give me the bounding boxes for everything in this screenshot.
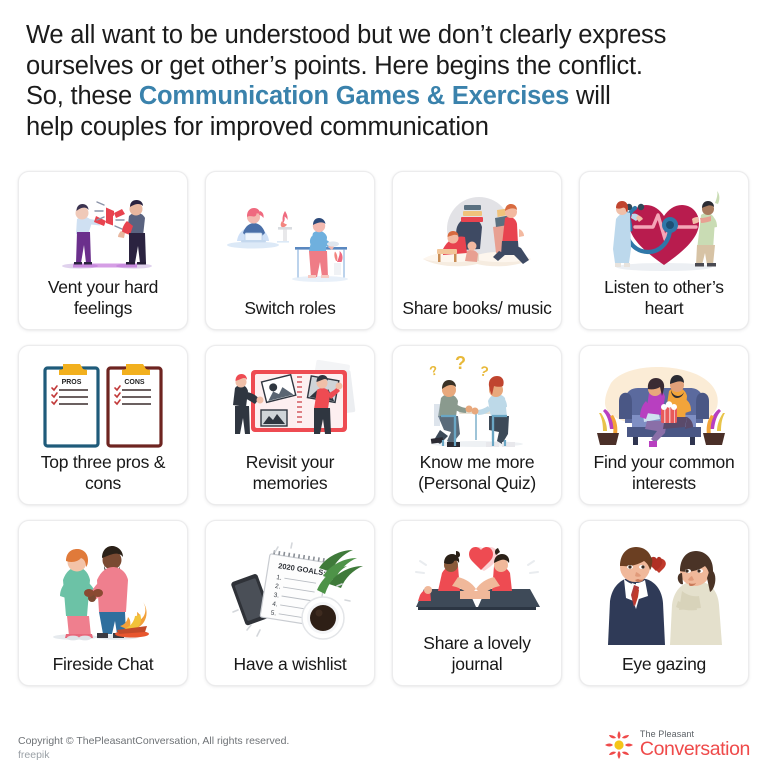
card-share-a-lovely-journal[interactable]: Share a lovely journal [392, 520, 562, 686]
infographic-page: We all want to be understood but we don’… [0, 0, 768, 767]
card-know-me-more[interactable]: ? ? ? [392, 345, 562, 505]
copyright-block: Copyright © ThePleasantConversation, All… [18, 734, 289, 762]
illustration-couple-with-cups-fire [25, 529, 181, 654]
card-caption: Fireside Chat [51, 654, 156, 676]
card-caption: Listen to other’s heart [586, 277, 742, 320]
card-caption: Share books/ music [400, 298, 553, 320]
illustration-two-people-questions: ? ? ? [399, 354, 555, 452]
illustration-photo-album [212, 354, 368, 452]
brand-logo[interactable]: The Pleasant Conversation [604, 730, 750, 760]
source-attribution: freepik [18, 748, 289, 762]
copyright-text: Copyright © ThePleasantConversation, All… [18, 734, 289, 748]
card-caption: Know me more (Personal Quiz) [399, 452, 555, 495]
header-line-1: We all want to be understood but we don’… [26, 21, 666, 49]
svg-text:?: ? [455, 356, 466, 373]
exercise-card-grid: Vent your hard feelings [18, 171, 750, 686]
card-fireside-chat[interactable]: Fireside Chat [18, 520, 188, 686]
illustration-notepad-coffee-phone: 2020 GOALS: 1.2.3. 4.5. [212, 529, 368, 654]
illustration-megaphone-argument [25, 180, 181, 277]
card-caption: Eye gazing [620, 654, 708, 676]
svg-text:?: ? [478, 362, 490, 379]
card-switch-roles[interactable]: Switch roles [205, 171, 375, 330]
sun-burst-icon [604, 730, 634, 760]
card-caption: Find your common interests [586, 452, 742, 495]
brand-wordmark: The Pleasant Conversation [640, 730, 750, 760]
illustration-couch-couple-popcorn [586, 354, 742, 452]
header-line-4: help couples for improved communication [26, 113, 489, 141]
illustration-couple-facing-heart [586, 529, 742, 654]
card-caption: Top three pros & cons [25, 452, 181, 495]
card-eye-gazing[interactable]: Eye gazing [579, 520, 749, 686]
header-line-3-pre: So, these [26, 82, 139, 110]
footer: Copyright © ThePleasantConversation, All… [0, 722, 768, 767]
card-caption: Switch roles [242, 298, 337, 320]
card-caption: Have a wishlist [232, 654, 349, 676]
svg-text:PROS: PROS [62, 379, 82, 386]
card-vent-your-hard-feelings[interactable]: Vent your hard feelings [18, 171, 188, 330]
card-listen-to-others-heart[interactable]: Listen to other’s heart [579, 171, 749, 330]
card-have-a-wishlist[interactable]: 2020 GOALS: 1.2.3. 4.5. [205, 520, 375, 686]
card-revisit-your-memories[interactable]: Revisit your memories [205, 345, 375, 505]
header-line-2: ourselves or get other’s points. Here be… [26, 52, 643, 80]
illustration-two-people-laptops-heart [399, 529, 555, 633]
page-title: We all want to be understood but we don’… [26, 20, 742, 142]
card-top-three-pros-cons[interactable]: PROS CONS [18, 345, 188, 505]
illustration-laptop-and-cooking [212, 180, 368, 298]
header-line-3-post: will [569, 82, 611, 110]
illustration-heart-stethoscope [586, 180, 742, 277]
card-caption: Revisit your memories [212, 452, 368, 495]
brand-name-bottom: Conversation [640, 740, 750, 760]
card-find-your-common-interests[interactable]: Find your common interests [579, 345, 749, 505]
card-share-books-music[interactable]: Share books/ music [392, 171, 562, 330]
svg-text:?: ? [428, 362, 440, 379]
card-caption: Vent your hard feelings [25, 277, 181, 320]
card-caption: Share a lovely journal [399, 633, 555, 676]
header-highlight: Communication Games & Exercises [139, 82, 569, 110]
svg-text:CONS: CONS [124, 379, 145, 386]
illustration-open-book-readers [399, 180, 555, 298]
illustration-pros-cons-clipboards: PROS CONS [25, 354, 181, 452]
